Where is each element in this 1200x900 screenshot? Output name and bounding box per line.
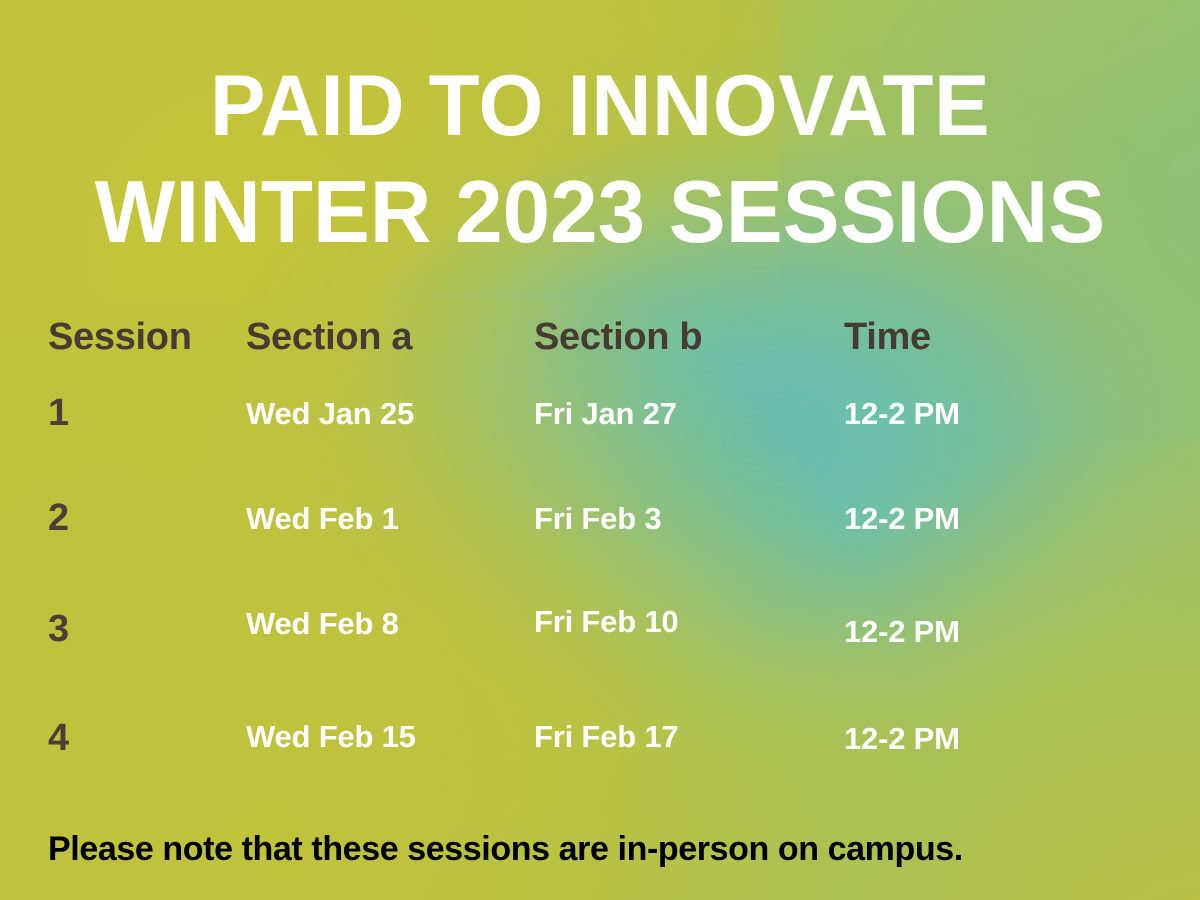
title-line-2: WINTER 2023 SESSIONS xyxy=(18,159,1182,264)
poster-canvas: PAID TO INNOVATE WINTER 2023 SESSIONS Se… xyxy=(0,0,1200,900)
table-row: 2 Wed Feb 1 Fri Feb 3 12-2 PM xyxy=(0,497,1200,602)
cell-section-b: Fri Feb 3 xyxy=(524,497,830,602)
cell-session: 1 xyxy=(0,392,236,497)
cell-section-a: Wed Feb 8 xyxy=(236,602,524,715)
column-header-section-a: Section a xyxy=(236,316,524,392)
cell-time: 12-2 PM xyxy=(830,602,1200,715)
footnote-text: Please note that these sessions are in-p… xyxy=(48,830,963,869)
table-row: 4 Wed Feb 15 Fri Feb 17 12-2 PM xyxy=(0,715,1200,822)
cell-section-a: Wed Jan 25 xyxy=(236,392,524,497)
table-row: 1 Wed Jan 25 Fri Jan 27 12-2 PM xyxy=(0,392,1200,497)
cell-time: 12-2 PM xyxy=(830,497,1200,602)
cell-time: 12-2 PM xyxy=(830,715,1200,822)
table-header-row: Session Section a Section b Time xyxy=(0,316,1200,392)
cell-session: 4 xyxy=(0,715,236,822)
table-header: Session Section a Section b Time xyxy=(0,316,1200,392)
cell-section-b: Fri Feb 10 xyxy=(524,602,830,715)
column-header-section-b: Section b xyxy=(524,316,830,392)
poster-title: PAID TO INNOVATE WINTER 2023 SESSIONS xyxy=(0,54,1200,264)
cell-section-a: Wed Feb 15 xyxy=(236,715,524,822)
cell-session: 3 xyxy=(0,602,236,715)
table-body: 1 Wed Jan 25 Fri Jan 27 12-2 PM 2 Wed Fe… xyxy=(0,392,1200,822)
cell-section-a: Wed Feb 1 xyxy=(236,497,524,602)
column-header-time: Time xyxy=(830,316,1200,392)
title-line-1: PAID TO INNOVATE xyxy=(18,54,1182,159)
column-header-session: Session xyxy=(0,316,236,392)
cell-time: 12-2 PM xyxy=(830,392,1200,497)
cell-session: 2 xyxy=(0,497,236,602)
table-row: 3 Wed Feb 8 Fri Feb 10 12-2 PM xyxy=(0,602,1200,715)
poster-content: PAID TO INNOVATE WINTER 2023 SESSIONS Se… xyxy=(0,0,1200,900)
cell-section-b: Fri Feb 17 xyxy=(524,715,830,822)
sessions-table: Session Section a Section b Time 1 Wed J… xyxy=(0,316,1200,822)
cell-section-b: Fri Jan 27 xyxy=(524,392,830,497)
